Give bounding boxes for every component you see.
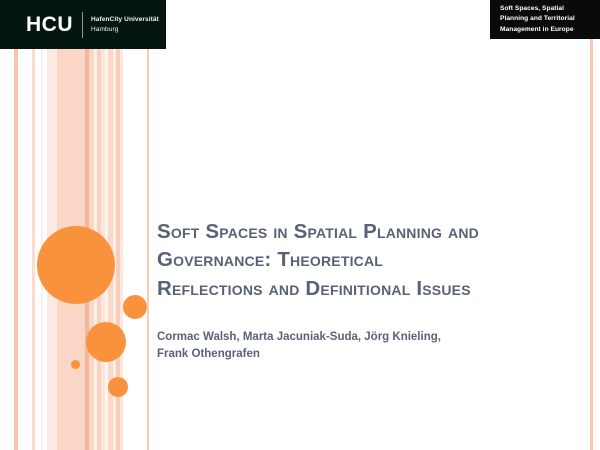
decorative-stripe-0 [14, 48, 18, 450]
decorative-stripe-15 [147, 48, 149, 450]
slide-title: Soft Spaces in Spatial Planning and Gove… [157, 218, 557, 303]
topic-header-text: Soft Spaces, Spatial Planning and Territ… [490, 4, 581, 35]
circle-medium [86, 322, 126, 362]
title-block: Soft Spaces in Spatial Planning and Gove… [157, 218, 557, 303]
decorative-stripe-1 [32, 48, 35, 450]
circle-small-upper [123, 295, 147, 319]
topic-header-line-2: Planning and Territorial [500, 14, 575, 24]
logo-institution-line-2: Hamburg [91, 25, 159, 34]
decorative-edge-stripe [590, 38, 593, 450]
logo-institution-line-1: HafenCity Universität [91, 15, 159, 24]
presentation-slide: HCU HafenCity Universität Hamburg Soft S… [0, 0, 600, 450]
topic-header-line-1: Soft Spaces, Spatial [500, 4, 575, 14]
slide-title-line-1: Soft Spaces in Spatial Planning and [157, 218, 557, 246]
topic-header-line-3: Management in Europe [500, 25, 575, 35]
circle-small-lower [108, 377, 128, 397]
logo-institution-name: HafenCity Universität Hamburg [83, 15, 159, 34]
author-line-2: Frank Othengrafen [157, 346, 547, 363]
topic-header-box: Soft Spaces, Spatial Planning and Territ… [490, 0, 600, 39]
slide-title-line-3: Reflections and Definitional Issues [157, 275, 557, 303]
author-line-1: Cormac Walsh, Marta Jacuniak-Suda, Jörg … [157, 329, 547, 346]
circle-tiny [71, 360, 80, 369]
author-list: Cormac Walsh, Marta Jacuniak-Suda, Jörg … [157, 329, 547, 362]
hcu-logo-mark: HCU [0, 14, 82, 35]
slide-title-line-2: Governance: Theoretical [157, 246, 557, 274]
hcu-logo-box: HCU HafenCity Universität Hamburg [0, 0, 166, 49]
circle-large [37, 226, 115, 304]
